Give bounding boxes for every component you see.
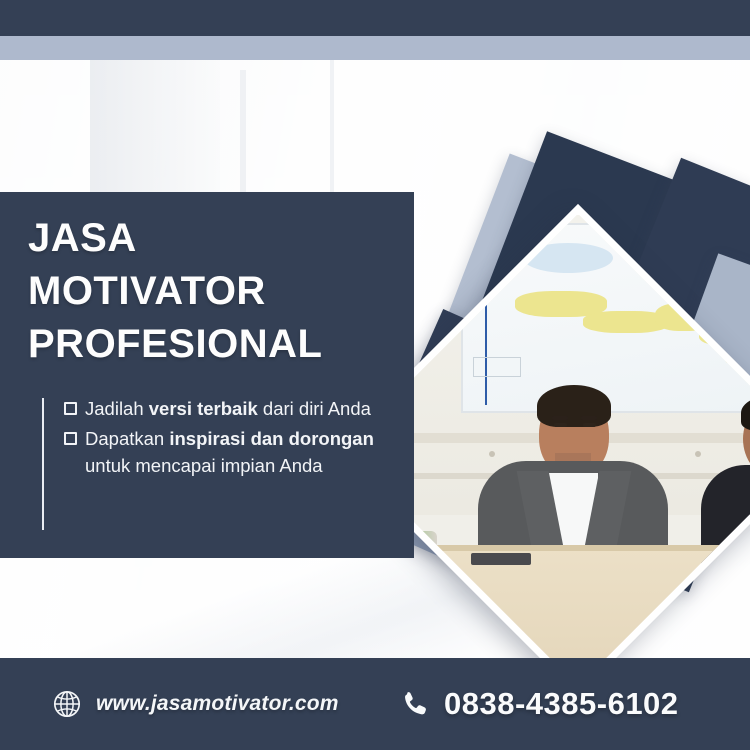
headline-line-3: PROFESIONAL [28, 318, 408, 371]
phone-contact[interactable]: 0838-4385-6102 [400, 686, 679, 722]
list-item-text: Jadilah versi terbaik dari diri Anda [85, 396, 371, 423]
bullet-1-pre: Jadilah [85, 398, 149, 419]
list-accent-rule [42, 398, 44, 530]
photo-board-label [473, 357, 521, 377]
checkbox-square-icon [64, 432, 77, 445]
photo-person-center-hair [537, 385, 611, 427]
photo-person-center-eye [583, 423, 596, 427]
globe-icon [52, 689, 82, 719]
bullet-1-post: dari diri Anda [258, 398, 371, 419]
photo-wall-screw [489, 451, 495, 457]
bullet-2-pre: Dapatkan [85, 428, 169, 449]
list-item-text: Dapatkan inspirasi dan dorongan untuk me… [85, 426, 384, 480]
footer-bar: www.jasamotivator.com 0838-4385-6102 [0, 658, 750, 750]
headline-line-1: JASA [28, 212, 408, 265]
top-bar-dark [0, 0, 750, 36]
poster-canvas: JASA MOTIVATOR PROFESIONAL Jadilah versi… [0, 0, 750, 750]
page-title: JASA MOTIVATOR PROFESIONAL [28, 212, 408, 372]
photo-person-center-brow [552, 416, 568, 420]
photo-wall-screw [695, 451, 701, 457]
bullet-2-bold: inspirasi dan dorongan [169, 428, 374, 449]
photo-person-center-brow [581, 416, 597, 420]
list-item: Dapatkan inspirasi dan dorongan untuk me… [64, 426, 384, 480]
headline-line-2: MOTIVATOR [28, 265, 408, 318]
website-contact[interactable]: www.jasamotivator.com [52, 689, 339, 719]
photo-foreground-phone [471, 553, 531, 565]
top-bar-light [0, 36, 750, 60]
photo-person-center-eye [554, 423, 567, 427]
phone-text: 0838-4385-6102 [444, 686, 679, 722]
list-item: Jadilah versi terbaik dari diri Anda [64, 396, 384, 423]
phone-icon [400, 689, 430, 719]
checkbox-square-icon [64, 402, 77, 415]
website-text: www.jasamotivator.com [96, 692, 339, 716]
photo-map-sea [523, 243, 613, 273]
bullet-2-post: untuk mencapai impian Anda [85, 455, 323, 476]
bullet-1-bold: versi terbaik [149, 398, 258, 419]
